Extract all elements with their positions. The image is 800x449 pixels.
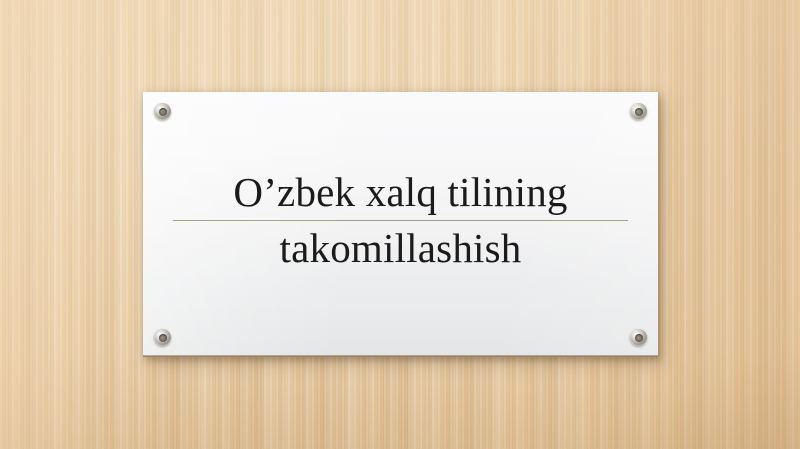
- panel-top-edge: [143, 92, 658, 93]
- title-divider-rule: [173, 220, 628, 221]
- screw-icon-bottom-left: [154, 329, 171, 346]
- screw-icon-top-left: [154, 103, 171, 120]
- screw-icon-bottom-right: [630, 329, 647, 346]
- slide-title-line-2: takomillashish: [171, 222, 630, 274]
- title-panel: O’zbek xalq tilining takomillashish: [143, 92, 658, 357]
- slide-title-block: O’zbek xalq tilining takomillashish: [171, 166, 630, 274]
- slide-canvas: O’zbek xalq tilining takomillashish: [0, 0, 800, 449]
- screw-icon-top-right: [630, 103, 647, 120]
- slide-title-line-1: O’zbek xalq tilining: [171, 166, 630, 218]
- panel-bottom-edge: [143, 355, 658, 357]
